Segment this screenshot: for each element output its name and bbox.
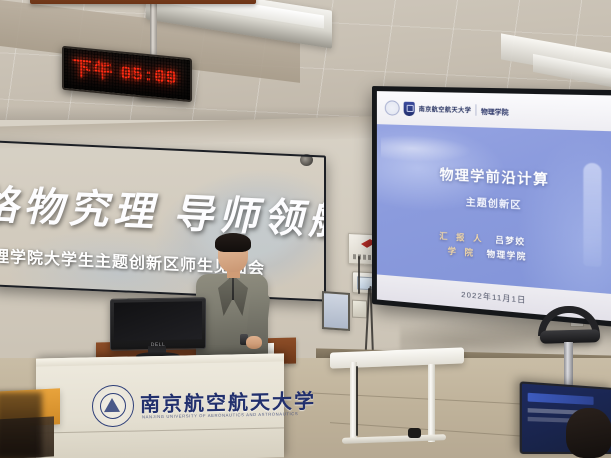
desktop-monitor[interactable]: DELL bbox=[110, 297, 206, 351]
slide-cloud-graphic bbox=[381, 135, 472, 165]
podium-panel-seam bbox=[36, 427, 284, 433]
projection-screen: 南京航空航天大学 物理学院 物理学前沿计算 主题创新区 汇 报 人 吕梦姣 学 … bbox=[372, 86, 611, 328]
crest-emblem-shape bbox=[104, 398, 120, 412]
presenter bbox=[196, 236, 268, 358]
floor-power-adapter bbox=[408, 428, 421, 438]
slide-body: 物理学前沿计算 主题创新区 汇 报 人 吕梦姣 学 院 物理学院 bbox=[377, 124, 611, 294]
clock-period-label: 下午 bbox=[72, 59, 114, 83]
meta-key-college: 学 院 bbox=[448, 245, 476, 258]
lecture-hall-photo: 下午 05:09 格物究理 导师领航 物理学院大学生主题创新区师生见面会 南京航… bbox=[0, 0, 611, 458]
slide-meta-row: 学 院 物理学院 bbox=[448, 245, 541, 263]
meta-value-college: 物理学院 bbox=[487, 248, 541, 264]
audience-member-head bbox=[566, 408, 611, 458]
side-table-power-cable bbox=[356, 366, 358, 436]
lectern-podium: 南京航空航天大学 NANJING UNIVERSITY OF AERONAUTI… bbox=[36, 353, 284, 458]
event-banner-display: 格物究理 导师领航 物理学院大学生主题创新区师生见面会 bbox=[0, 140, 326, 301]
wall-picture-frame bbox=[322, 291, 350, 331]
wall-cable-c bbox=[358, 256, 360, 294]
monitor-screen bbox=[114, 301, 202, 341]
slide-university-name: 南京航空航天大学 bbox=[419, 104, 472, 115]
slide-date: 2022年11月1日 bbox=[461, 289, 526, 306]
meta-key-presenter: 汇 报 人 bbox=[439, 231, 484, 245]
slide-department-name: 物理学院 bbox=[481, 105, 509, 116]
clock-time-label: 05:09 bbox=[120, 64, 177, 88]
laptop-screen-header bbox=[528, 393, 594, 405]
wall-junction-box bbox=[352, 300, 367, 319]
meta-value-presenter: 吕梦姣 bbox=[495, 234, 549, 249]
foreground-blur-left bbox=[0, 392, 42, 458]
bar-stool-post bbox=[564, 342, 573, 390]
presenter-hair bbox=[215, 233, 251, 252]
presenter-hand bbox=[246, 336, 262, 349]
university-crest-icon bbox=[92, 385, 134, 428]
university-shield-icon bbox=[404, 101, 415, 115]
podium-wood-surface bbox=[30, 0, 256, 4]
university-seal-icon bbox=[385, 100, 400, 115]
presentation-slide: 南京航空航天大学 物理学院 物理学前沿计算 主题创新区 汇 报 人 吕梦姣 学 … bbox=[377, 91, 611, 322]
side-table-leg-right bbox=[428, 364, 435, 442]
slide-subtitle: 主题创新区 bbox=[377, 189, 611, 217]
slide-meta-block: 汇 报 人 吕梦姣 学 院 物理学院 bbox=[377, 226, 611, 269]
slide-title: 物理学前沿计算 bbox=[377, 160, 611, 192]
header-divider bbox=[476, 104, 477, 115]
